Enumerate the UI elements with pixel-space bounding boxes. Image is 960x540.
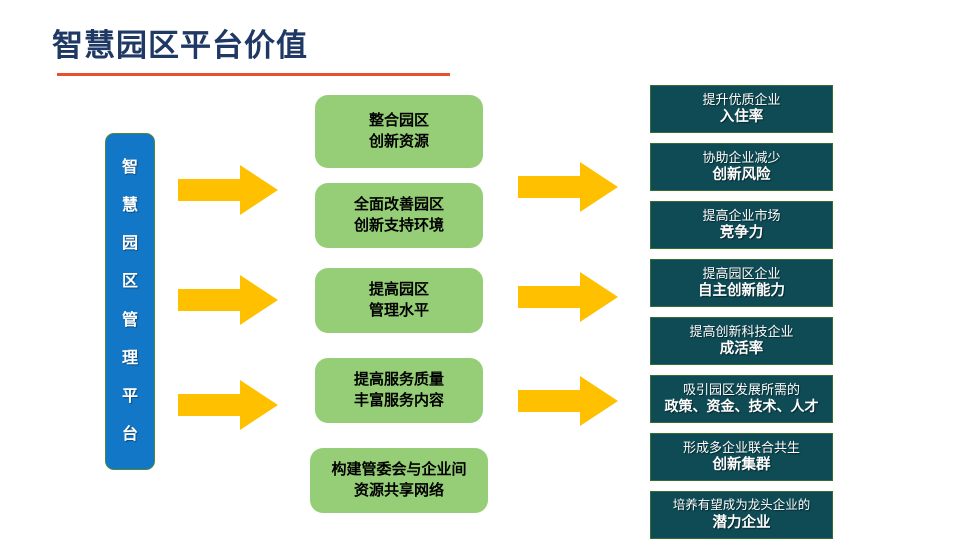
outcome-box-1: 提升优质企业 入住率 [650, 85, 833, 133]
platform-vertical-box: 智 慧 园 区 管 理 平 台 [105, 133, 155, 470]
arrow-platform-to-capability-2 [178, 275, 278, 325]
arrow-capability-to-outcome-2 [518, 272, 618, 322]
outcome-box-3: 提高企业市场 竞争力 [650, 201, 833, 249]
capability-box-1-line2: 创新资源 [369, 132, 429, 152]
outcome-box-4: 提高园区企业 自主创新能力 [650, 259, 833, 307]
capability-box-5-line2: 资源共享网络 [354, 481, 444, 501]
outcome-box-2-line2: 创新风险 [713, 166, 771, 184]
outcome-box-6: 吸引园区发展所需的 政策、资金、技术、人才 [650, 375, 833, 423]
capability-box-1-line1: 整合园区 [369, 111, 429, 131]
capability-box-3-line1: 提高园区 [369, 280, 429, 300]
title-underline-rule [57, 73, 450, 76]
capability-box-5: 构建管委会与企业间 资源共享网络 [310, 448, 488, 513]
outcome-box-5-line2: 成活率 [720, 340, 764, 358]
outcome-box-3-line1: 提高企业市场 [702, 208, 780, 224]
outcome-box-7-line1: 形成多企业联合共生 [683, 440, 800, 456]
outcome-box-4-line1: 提高园区企业 [702, 266, 780, 282]
outcome-box-8-line2: 潜力企业 [713, 514, 771, 532]
outcome-box-5-line1: 提高创新科技企业 [689, 324, 793, 340]
capability-box-4: 提高服务质量 丰富服务内容 [315, 358, 483, 423]
outcome-box-7: 形成多企业联合共生 创新集群 [650, 433, 833, 481]
platform-char-1: 慧 [122, 198, 138, 214]
outcome-box-1-line2: 入住率 [720, 108, 764, 126]
capability-box-4-line1: 提高服务质量 [354, 370, 444, 390]
arrow-platform-to-capability-1 [178, 165, 278, 215]
capability-box-2-line2: 创新支持环境 [354, 216, 444, 236]
capability-box-2-line1: 全面改善园区 [354, 195, 444, 215]
outcome-box-8: 培养有望成为龙头企业的 潜力企业 [650, 491, 833, 539]
capability-box-4-line2: 丰富服务内容 [354, 391, 444, 411]
platform-char-6: 平 [122, 389, 138, 405]
platform-char-4: 管 [122, 313, 138, 329]
arrow-capability-to-outcome-1 [518, 162, 618, 212]
platform-char-3: 区 [122, 274, 138, 290]
outcome-box-5: 提高创新科技企业 成活率 [650, 317, 833, 365]
outcome-box-2-line1: 协助企业减少 [702, 150, 780, 166]
arrow-capability-to-outcome-3 [518, 376, 618, 426]
platform-char-2: 园 [122, 236, 138, 252]
outcome-box-8-line1: 培养有望成为龙头企业的 [673, 498, 811, 514]
outcome-box-6-line2: 政策、资金、技术、人才 [665, 398, 819, 416]
outcome-box-7-line2: 创新集群 [713, 456, 771, 474]
platform-char-7: 台 [122, 427, 138, 443]
capability-box-3-line2: 管理水平 [369, 301, 429, 321]
outcome-box-1-line1: 提升优质企业 [702, 92, 780, 108]
capability-box-1: 整合园区 创新资源 [315, 95, 483, 168]
outcome-box-4-line2: 自主创新能力 [698, 282, 785, 300]
capability-box-3: 提高园区 管理水平 [315, 268, 483, 333]
outcome-box-2: 协助企业减少 创新风险 [650, 143, 833, 191]
capability-box-2: 全面改善园区 创新支持环境 [315, 183, 483, 248]
outcome-box-3-line2: 竞争力 [720, 224, 764, 242]
outcome-box-6-line1: 吸引园区发展所需的 [683, 382, 800, 398]
platform-char-5: 理 [122, 351, 138, 367]
arrow-platform-to-capability-3 [178, 380, 278, 430]
platform-char-0: 智 [122, 160, 138, 176]
capability-box-5-line1: 构建管委会与企业间 [331, 460, 466, 480]
page-title: 智慧园区平台价值 [52, 20, 308, 65]
